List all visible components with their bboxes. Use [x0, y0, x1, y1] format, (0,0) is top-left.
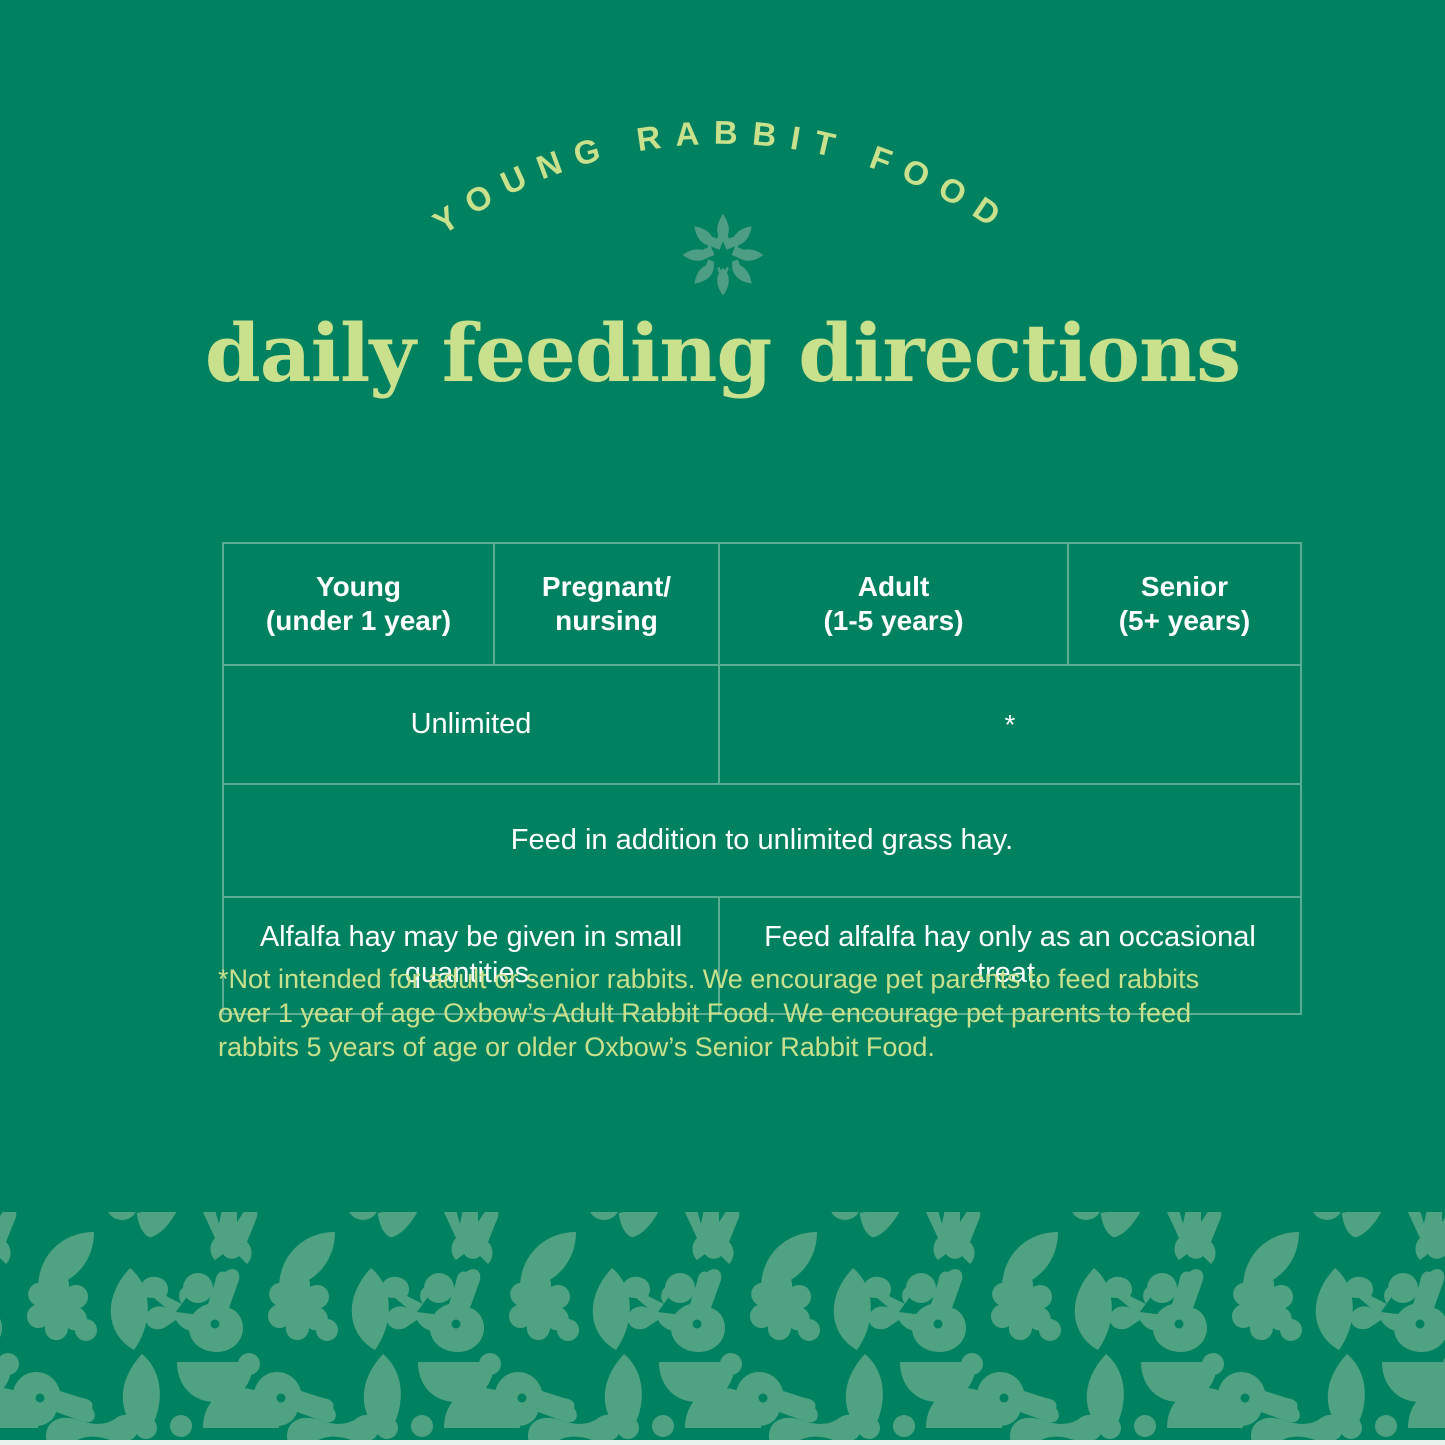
header-pregnant-line2: nursing — [555, 605, 658, 636]
pattern-tiles — [0, 1212, 1445, 1440]
table-header-young: Young (under 1 year) — [223, 543, 494, 665]
table-header-adult: Adult (1-5 years) — [719, 543, 1068, 665]
header-adult-line2: (1-5 years) — [823, 605, 963, 636]
footnote-text: *Not intended for adult or senior rabbit… — [218, 962, 1230, 1064]
rosette-flower-svg — [680, 212, 766, 298]
feeding-directions-table: Young (under 1 year) Pregnant/ nursing A… — [222, 542, 1302, 1015]
amount-adult-senior: * — [719, 665, 1301, 784]
page-title: daily feeding directions — [0, 312, 1445, 395]
header-senior-line1: Senior — [1141, 571, 1228, 602]
table-grass-hay-row: Feed in addition to unlimited grass hay. — [223, 784, 1301, 897]
table-header-pregnant: Pregnant/ nursing — [494, 543, 719, 665]
botanical-pattern-svg — [0, 1212, 1445, 1440]
table-header-row: Young (under 1 year) Pregnant/ nursing A… — [223, 543, 1301, 665]
botanical-rabbit-pattern-band — [0, 1212, 1445, 1440]
bottom-white-strip — [0, 1440, 1445, 1445]
table-amount-row: Unlimited * — [223, 665, 1301, 784]
header-adult-line1: Adult — [858, 571, 930, 602]
table-header-senior: Senior (5+ years) — [1068, 543, 1301, 665]
header-pregnant-line1: Pregnant/ — [542, 571, 671, 602]
header-young-line2: (under 1 year) — [266, 605, 451, 636]
grass-hay-note: Feed in addition to unlimited grass hay. — [223, 784, 1301, 897]
packaging-panel: YOUNG RABBIT FOOD — [0, 0, 1445, 1445]
header-senior-line2: (5+ years) — [1119, 605, 1251, 636]
header-young-line1: Young — [316, 571, 401, 602]
amount-young-pregnant: Unlimited — [223, 665, 719, 784]
rosette-flower-icon — [680, 212, 766, 298]
